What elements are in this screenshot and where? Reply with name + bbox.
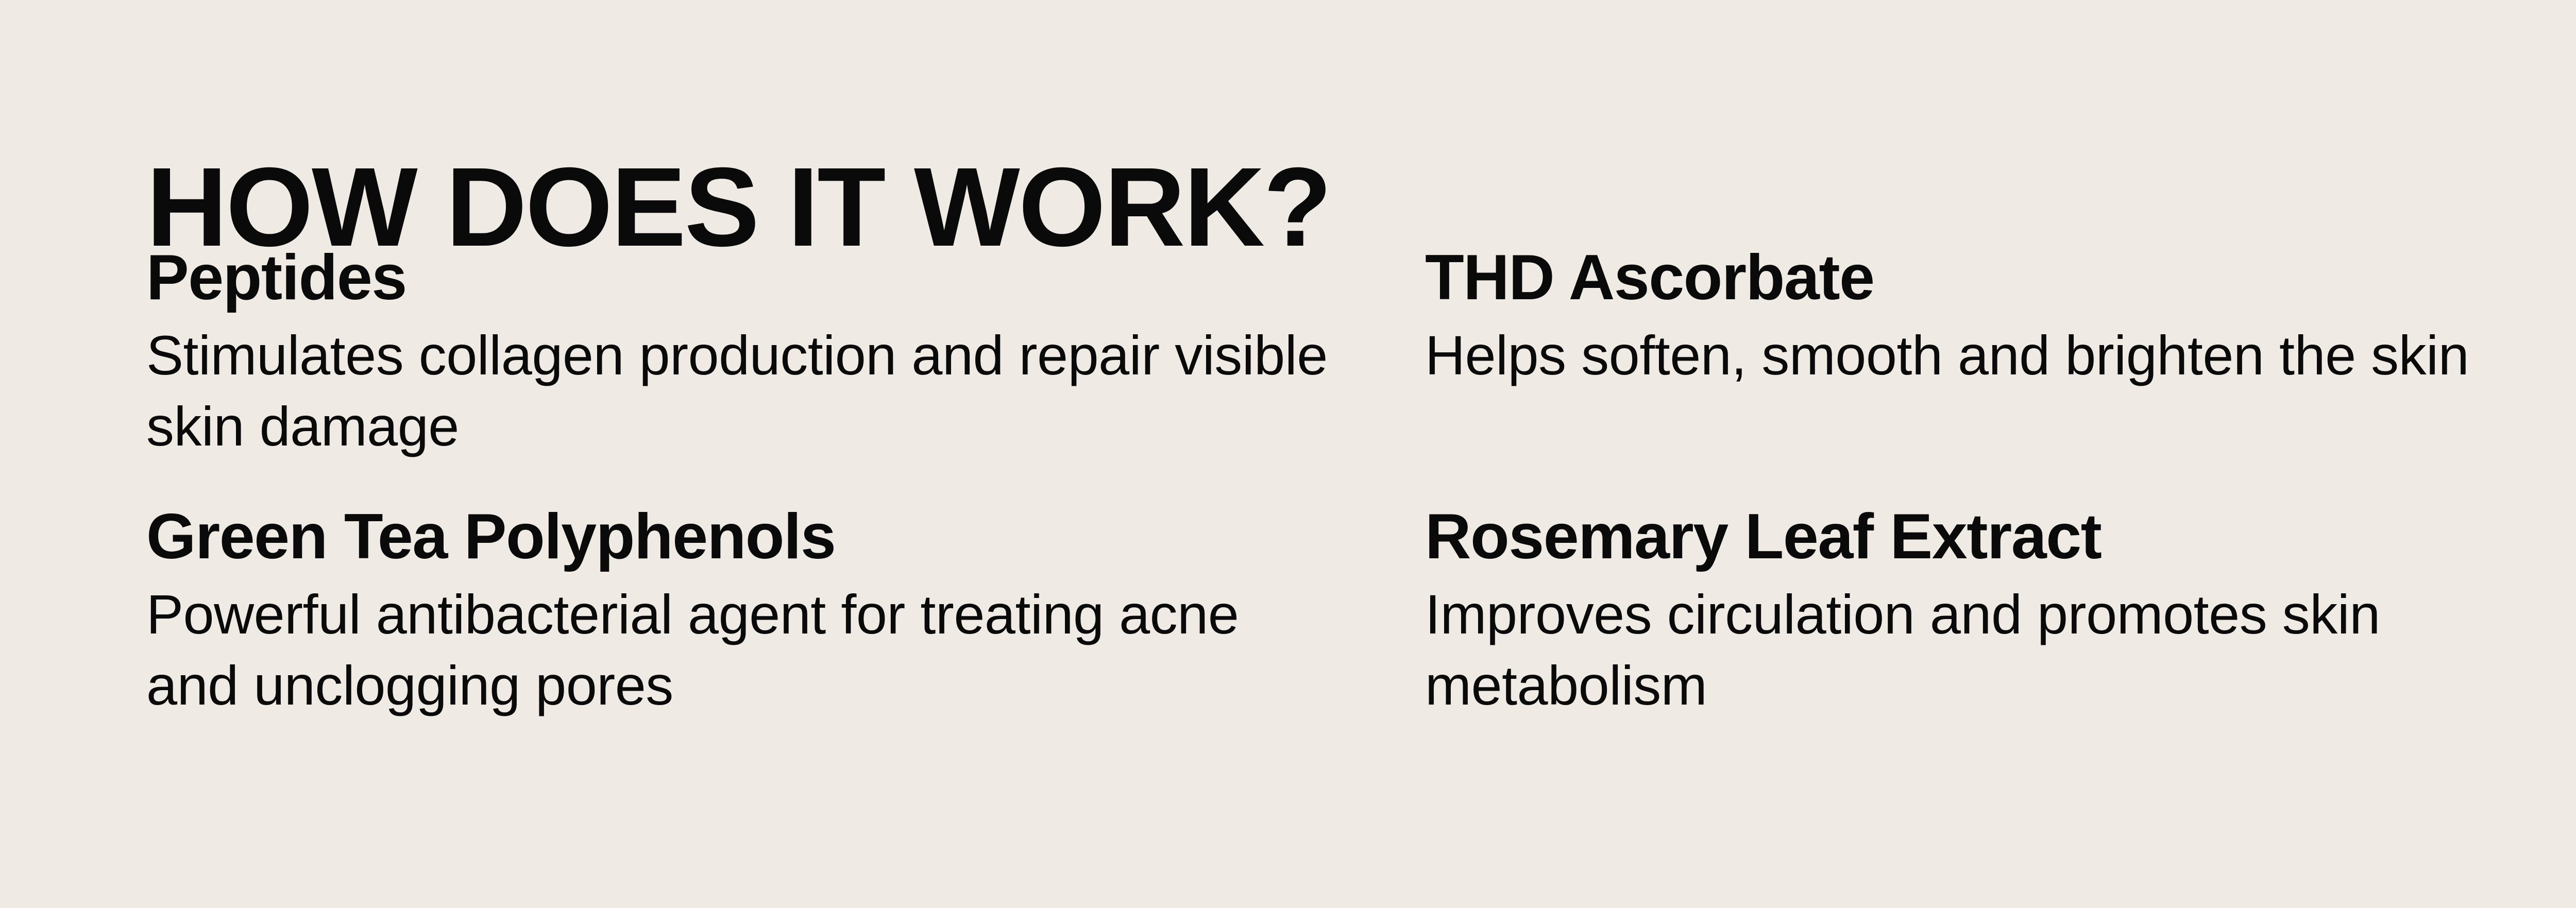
ingredient-block-green-tea-polyphenols: Green Tea Polyphenols Powerful antibacte…: [146, 501, 1425, 721]
ingredient-block-rosemary-leaf-extract: Rosemary Leaf Extract Improves circulati…: [1425, 501, 2568, 721]
ingredient-description: Powerful antibacterial agent for treatin…: [146, 579, 1342, 721]
how-it-works-slide: HOW DOES IT WORK? Peptides Stimulates co…: [0, 0, 2576, 908]
ingredient-grid: Peptides Stimulates collagen production …: [146, 242, 2568, 722]
ingredient-name: THD Ascorbate: [1425, 242, 2568, 314]
ingredient-name: Peptides: [146, 242, 1425, 314]
ingredient-name: Green Tea Polyphenols: [146, 501, 1425, 573]
ingredient-block-peptides: Peptides Stimulates collagen production …: [146, 242, 1425, 462]
ingredient-description: Improves circulation and promotes skin m…: [1425, 579, 2568, 721]
ingredient-block-thd-ascorbate: THD Ascorbate Helps soften, smooth and b…: [1425, 242, 2568, 462]
ingredient-description: Helps soften, smooth and brighten the sk…: [1425, 320, 2568, 391]
ingredient-description: Stimulates collagen production and repai…: [146, 320, 1342, 462]
ingredient-name: Rosemary Leaf Extract: [1425, 501, 2568, 573]
